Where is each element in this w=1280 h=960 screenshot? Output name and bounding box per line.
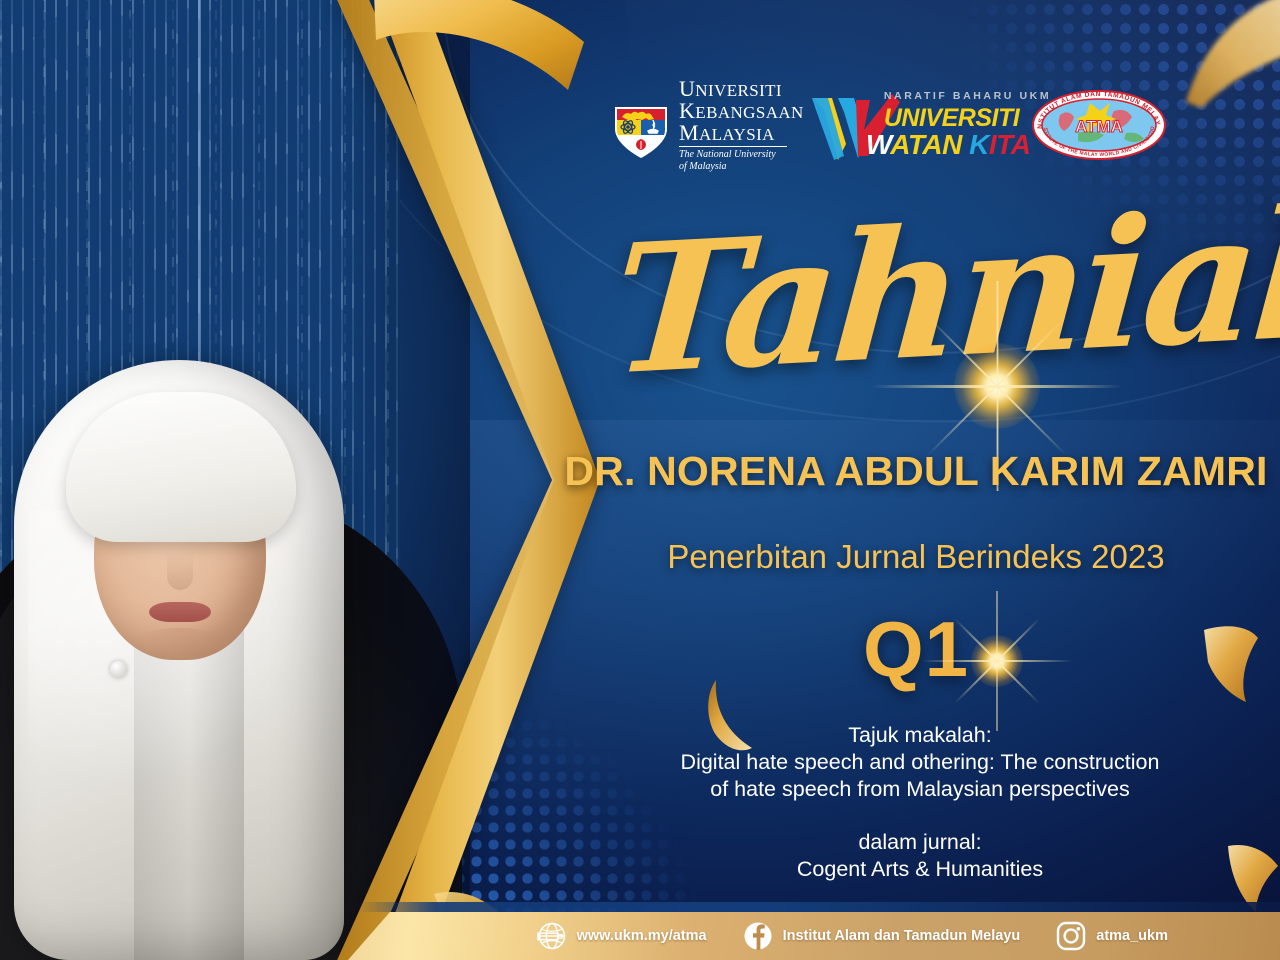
footer-website[interactable]: www.ukm.my/atma [537, 921, 707, 951]
globe-icon [537, 921, 567, 951]
headline-tahniah: Tahniah [615, 168, 1175, 424]
ukm-wordmark: UNIVERSITI KEBANGSAAN MALAYSIA The Natio… [679, 78, 804, 171]
footer-blue-strip [0, 902, 1280, 912]
quartile-badge: Q1 [560, 604, 1272, 695]
ukm-divider-rule [679, 146, 787, 147]
footer-instagram-text: atma_ukm [1096, 928, 1168, 944]
footer-facebook-text: Institut Alam dan Tamadun Melayu [783, 928, 1021, 944]
paper-title-line1: Digital hate speech and othering: The co… [600, 749, 1240, 776]
footer-website-text: www.ukm.my/atma [577, 928, 707, 944]
watan-rest: ATAN [890, 129, 962, 160]
watan-kita-line2: WATAN KITA [866, 129, 1031, 161]
watan-kita-logo: NARATIF BAHARU UKM UNIVERSITI WATAN KITA [810, 88, 1024, 162]
congratulations-poster: UNIVERSITI KEBANGSAAN MALAYSIA The Natio… [0, 0, 1280, 960]
award-subtitle: Penerbitan Jurnal Berindeks 2023 [560, 538, 1272, 576]
ukm-l1-rest: NIVERSITI [695, 81, 782, 100]
watan-kita-tagline: NARATIF BAHARU UKM [884, 90, 1051, 102]
facebook-icon [743, 921, 773, 951]
confetti-ribbon-top [372, 0, 602, 116]
paper-label: Tajuk makalah: [600, 722, 1240, 749]
ukm-subtitle-line1: The National University [679, 149, 804, 160]
ukm-logo: UNIVERSITI KEBANGSAAN MALAYSIA The Natio… [612, 78, 804, 171]
ukm-l3-rest: ALAYSIA [699, 125, 775, 144]
kita-k: K [969, 129, 989, 160]
kita-rest: ITA [989, 129, 1031, 160]
footer-facebook[interactable]: Institut Alam dan Tamadun Melayu [743, 921, 1021, 951]
watan-w: W [866, 129, 890, 160]
paper-title-line2: of hate speech from Malaysian perspectiv… [600, 776, 1240, 803]
footer-instagram[interactable]: atma_ukm [1056, 921, 1168, 951]
paper-details: Tajuk makalah: Digital hate speech and o… [600, 722, 1240, 883]
headline-tahniah-text: Tahniah [605, 154, 1186, 439]
portrait-brooch [110, 661, 127, 678]
honoree-name: DR. NORENA ABDUL KARIM ZAMRI [560, 448, 1272, 495]
instagram-icon [1056, 921, 1086, 951]
paper-spacer [600, 803, 1240, 829]
journal-name: Cogent Arts & Humanities [600, 856, 1240, 883]
atma-acronym: ATMA [1075, 117, 1123, 136]
footer-bar: www.ukm.my/atma Institut Alam dan Tamadu… [0, 912, 1280, 960]
journal-label: dalam jurnal: [600, 829, 1240, 856]
logo-row: UNIVERSITI KEBANGSAAN MALAYSIA The Natio… [612, 82, 1168, 168]
confetti-ribbon-top-right [1180, 0, 1280, 110]
ukm-l3-cap: M [679, 120, 699, 145]
ukm-l2-rest: EBANGSAAN [695, 103, 803, 122]
ukm-crest-icon [612, 89, 670, 161]
